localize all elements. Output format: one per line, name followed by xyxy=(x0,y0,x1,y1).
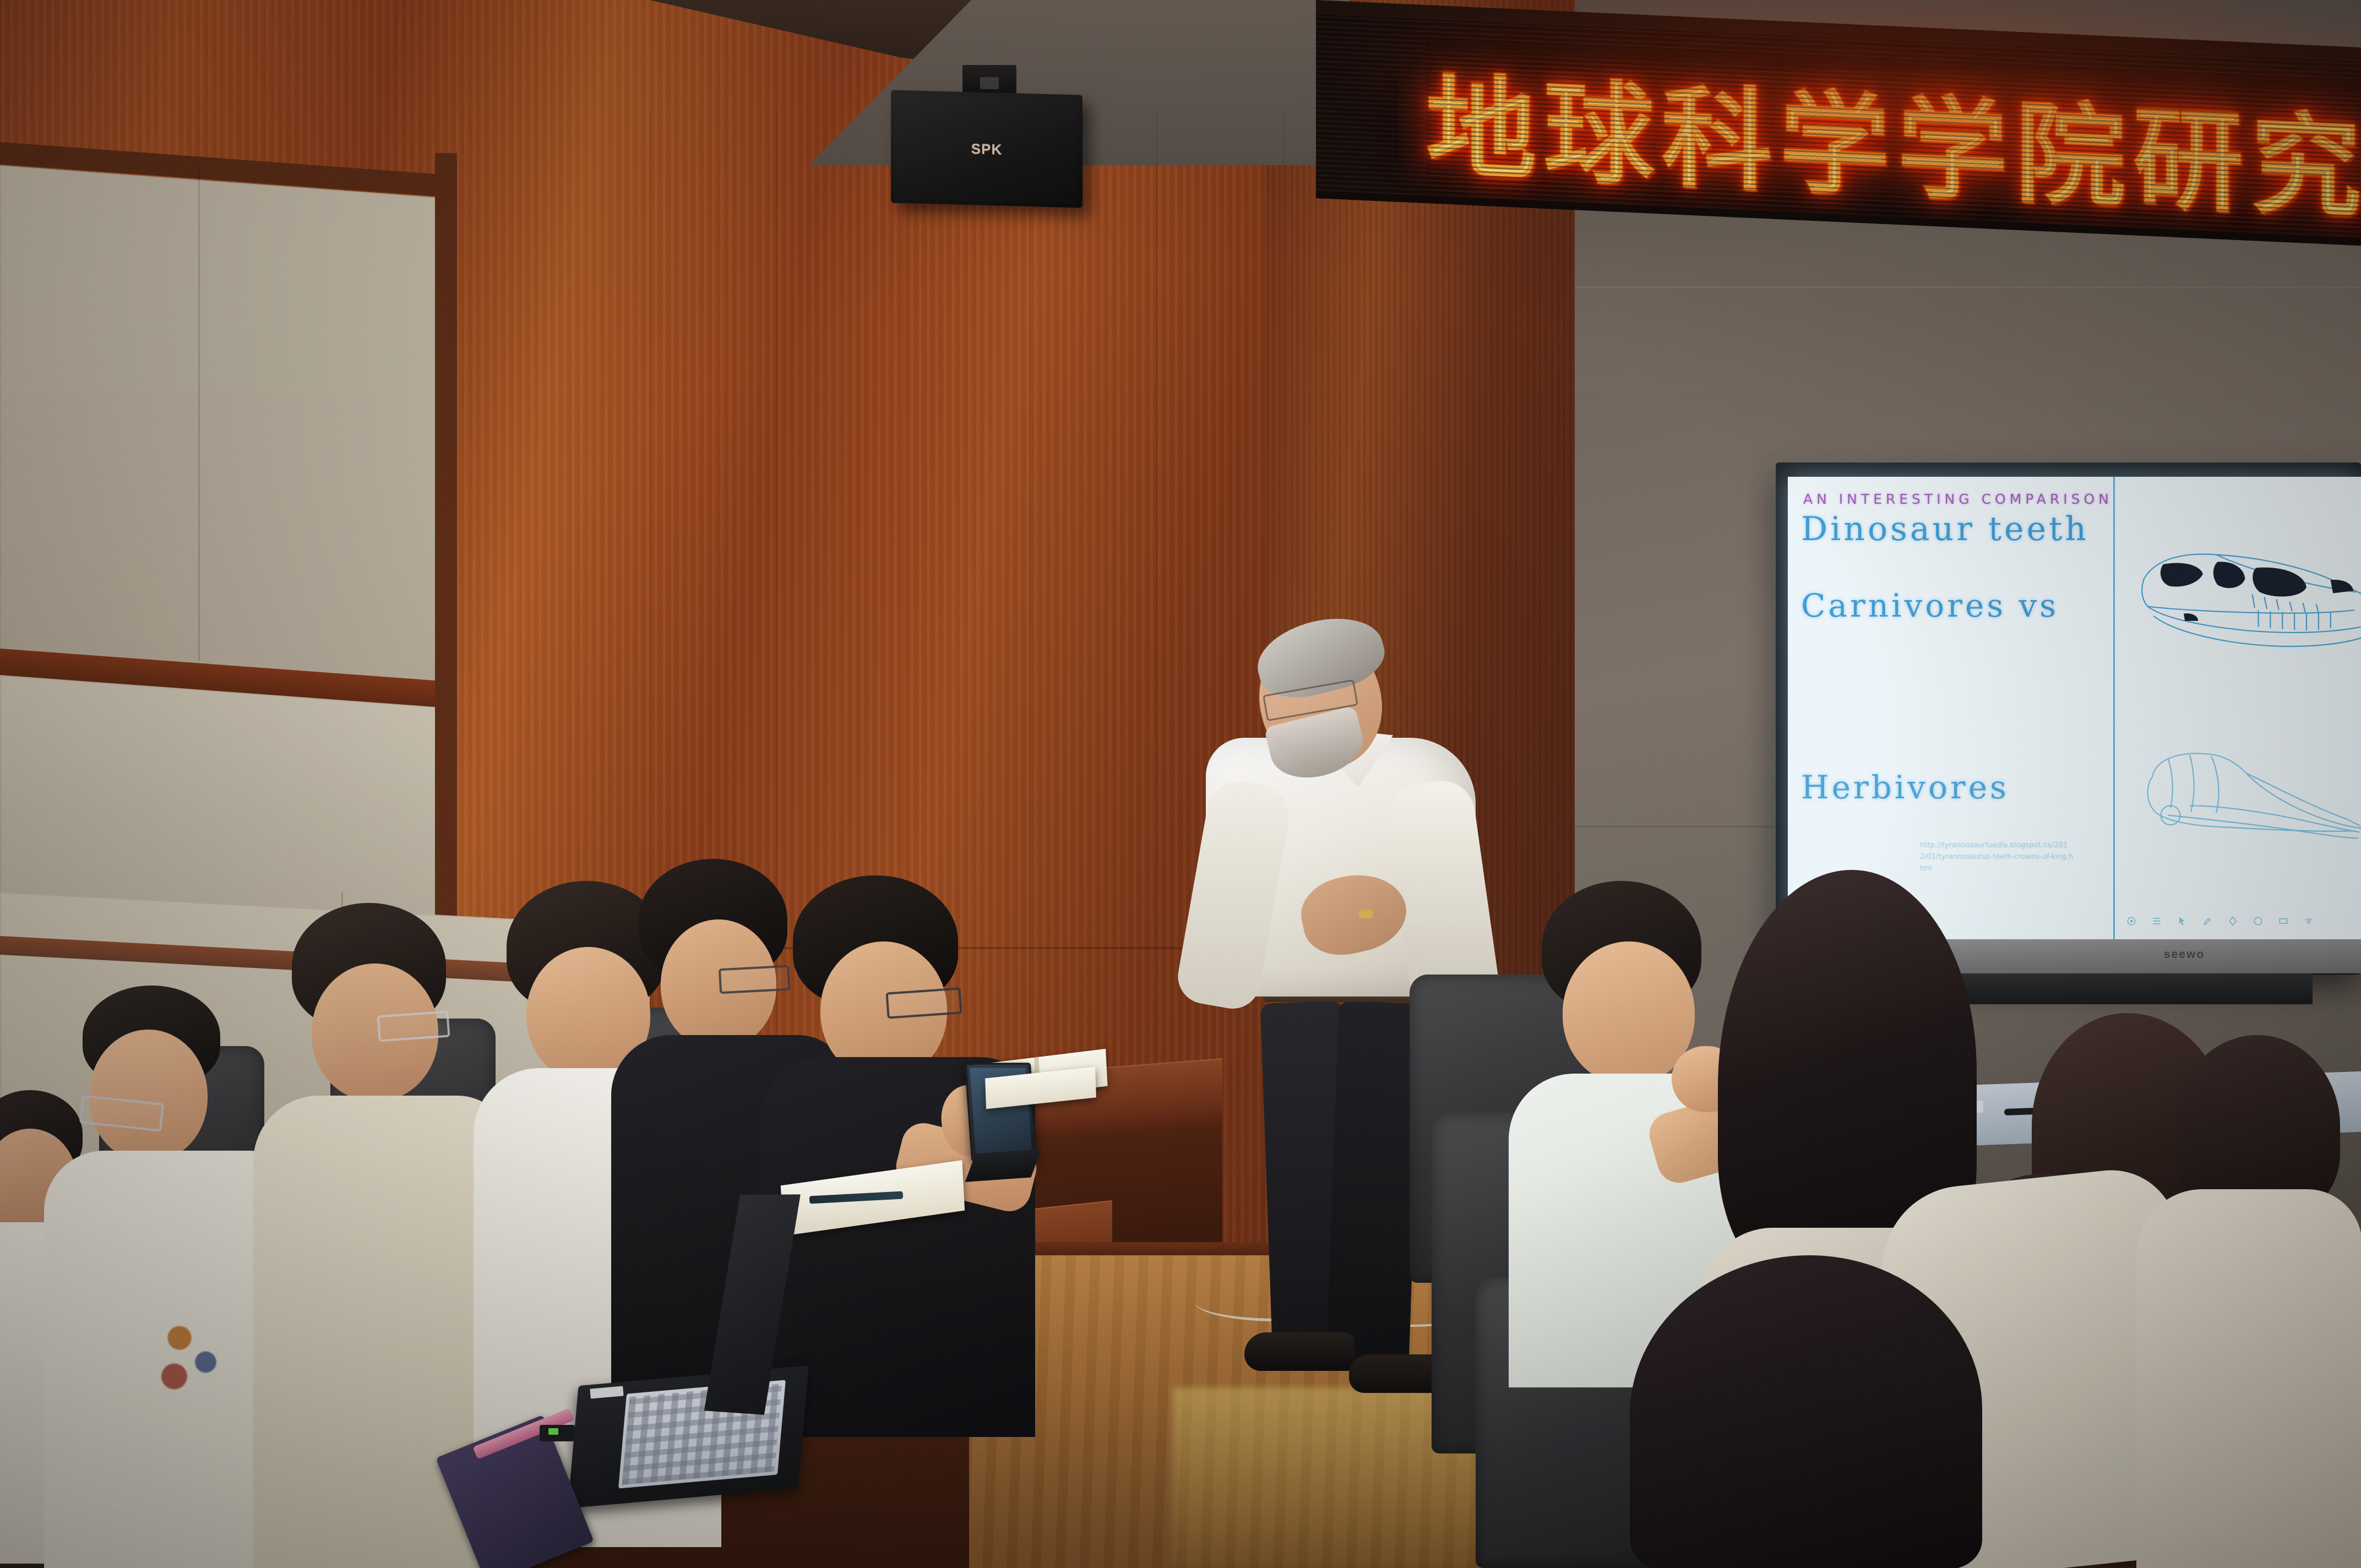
list-icon[interactable] xyxy=(2151,916,2162,927)
speaker-mount-knob xyxy=(980,77,999,89)
student-shirt-print xyxy=(138,1294,242,1404)
acoustic-panel-left xyxy=(0,165,440,693)
device-led-indicator xyxy=(548,1428,558,1435)
presenter-shoe-left xyxy=(1244,1332,1354,1371)
slide-column-divider xyxy=(2113,477,2115,939)
slide-kicker-text: AN INTERESTING COMPARISON xyxy=(1803,491,2113,507)
student-far-right-edge xyxy=(2136,1035,2361,1568)
highlighter-icon[interactable] xyxy=(2202,916,2213,927)
wall-speaker: SPK xyxy=(891,90,1082,208)
slide-subheading-herbivores: Herbivores xyxy=(1801,769,2009,806)
shape-icon[interactable] xyxy=(2253,916,2264,927)
student-head xyxy=(89,1030,208,1162)
lecture-room-photo: 地球科学学院研究生科研 SPK AN INTERESTING COMPARISO… xyxy=(0,0,2361,1568)
cursor-icon[interactable] xyxy=(2177,916,2188,927)
student-glasses xyxy=(377,1011,450,1042)
rectangle-icon[interactable] xyxy=(2278,916,2289,927)
student-foreground-dark xyxy=(1630,1255,2026,1568)
speaker-logo: SPK xyxy=(971,140,1002,157)
layers-icon[interactable] xyxy=(2303,916,2314,927)
panel-trim-top-2 xyxy=(435,153,457,979)
eraser-icon[interactable] xyxy=(2227,916,2238,927)
display-brand-logo: seewo xyxy=(2164,948,2205,961)
student-shirt xyxy=(2136,1189,2361,1568)
acoustic-panel-seam-1 xyxy=(198,165,200,661)
presenter-ring xyxy=(1359,910,1373,918)
presenter-leg-right xyxy=(1326,1001,1422,1367)
herbivore-skull-diagram xyxy=(2132,717,2361,875)
ppt-toolbar[interactable] xyxy=(2126,912,2332,930)
pen-icon[interactable] xyxy=(2126,916,2137,927)
carnivore-skull-diagram xyxy=(2132,504,2361,689)
tablet-stand xyxy=(965,1149,1041,1182)
student-hair xyxy=(1630,1255,1982,1568)
student-glasses xyxy=(885,987,962,1019)
slide-heading: Dinosaur teeth xyxy=(1801,510,2089,548)
slide-subheading-carnivores: Carnivores vs xyxy=(1801,587,2059,624)
